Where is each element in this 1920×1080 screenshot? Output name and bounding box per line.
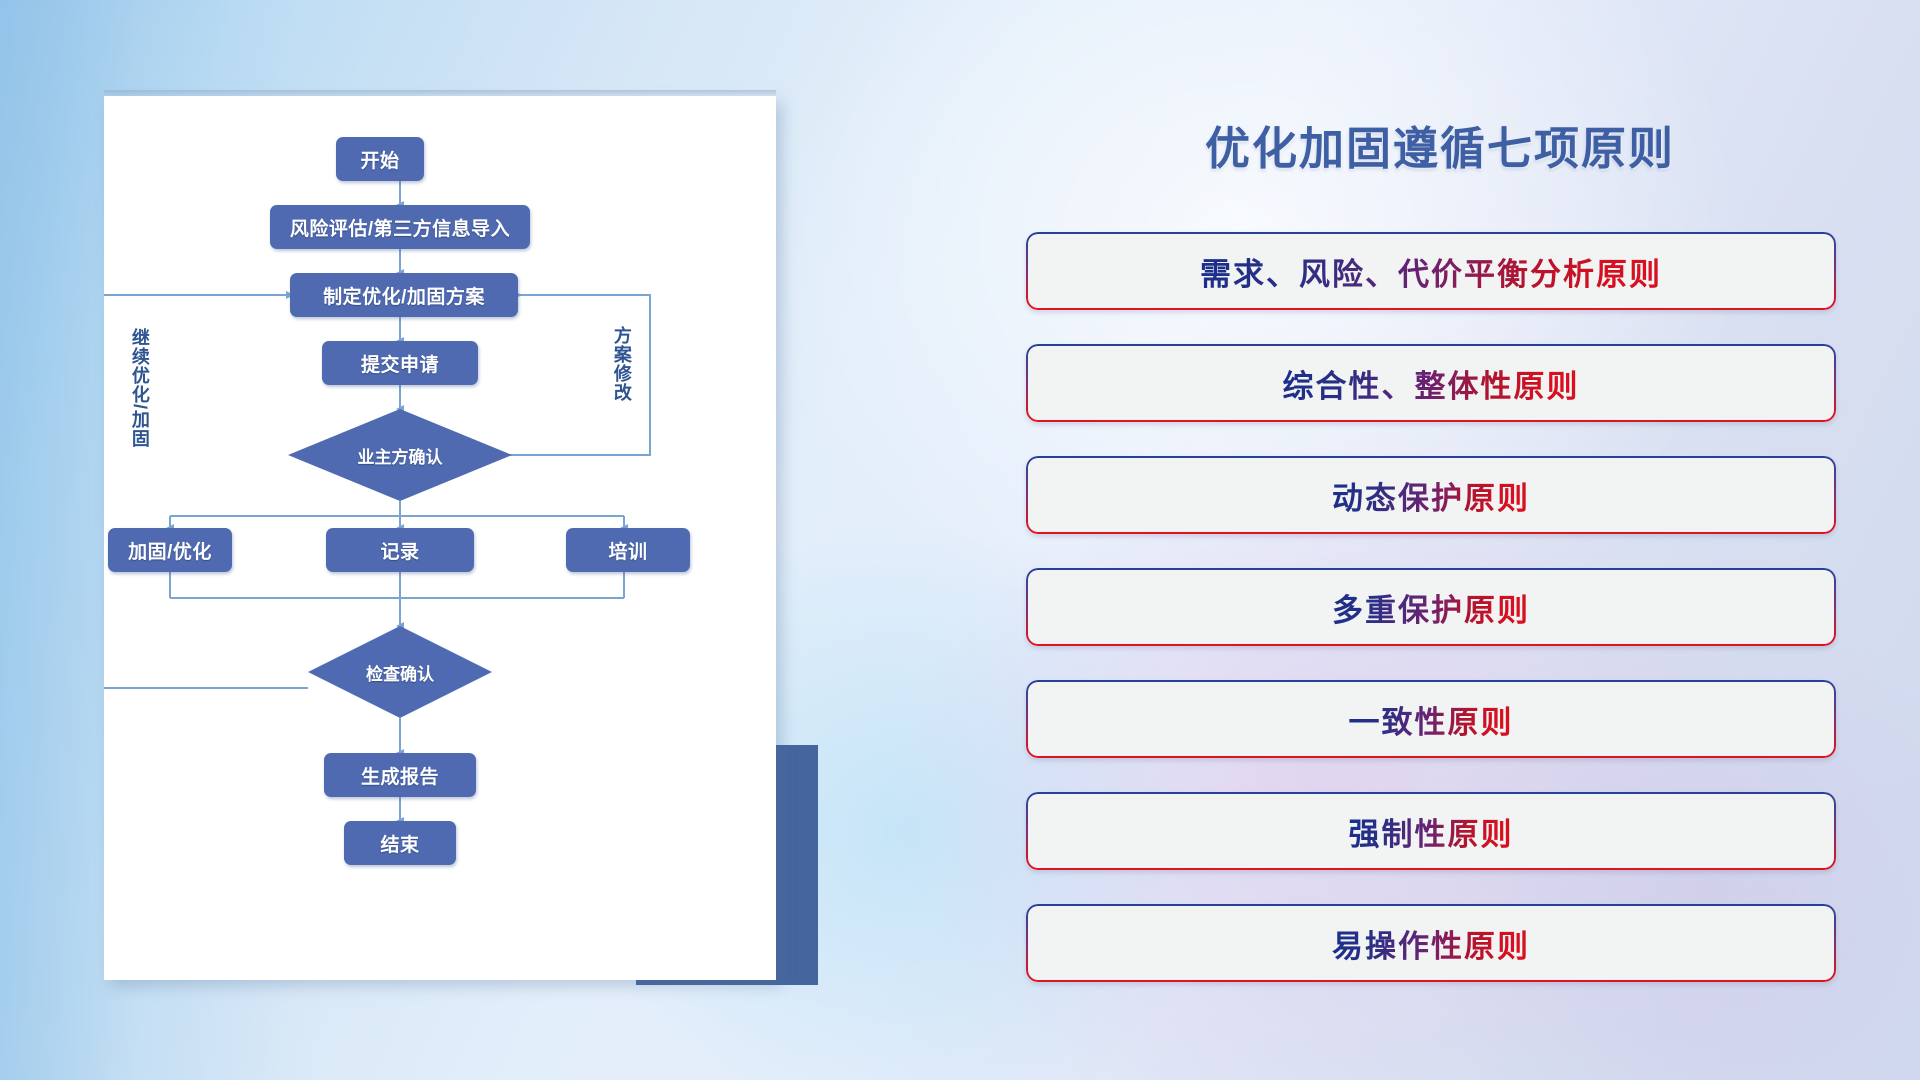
- flowchart-stage: 开始 风险评估/第三方信息导入 制定优化/加固方案 提交申请 业主方确认 加固/…: [0, 0, 900, 1080]
- flow-node-generate-report[interactable]: 生成报告: [324, 753, 476, 797]
- principle-card-6[interactable]: 强制性原则: [1026, 792, 1836, 870]
- flow-node-end[interactable]: 结束: [344, 821, 456, 865]
- flow-node-reinforce-optimize[interactable]: 加固/优化: [108, 528, 232, 572]
- principle-card-label: 多重保护原则: [1332, 585, 1530, 630]
- flow-node-start[interactable]: 开始: [336, 137, 424, 181]
- page-title: 优化加固遵循七项原则: [1010, 112, 1870, 177]
- flow-node-record[interactable]: 记录: [326, 528, 474, 572]
- principle-card-label: 强制性原则: [1349, 809, 1514, 854]
- flow-node-training[interactable]: 培训: [566, 528, 690, 572]
- principle-card-4[interactable]: 多重保护原则: [1026, 568, 1836, 646]
- principle-card-7[interactable]: 易操作性原则: [1026, 904, 1836, 982]
- flow-node-submit-application[interactable]: 提交申请: [322, 341, 478, 385]
- principle-card-5[interactable]: 一致性原则: [1026, 680, 1836, 758]
- principle-card-label: 动态保护原则: [1332, 473, 1530, 518]
- principle-card-label: 易操作性原则: [1332, 921, 1530, 966]
- principle-card-3[interactable]: 动态保护原则: [1026, 456, 1836, 534]
- flowchart-paper: 开始 风险评估/第三方信息导入 制定优化/加固方案 提交申请 业主方确认 加固/…: [104, 96, 776, 980]
- flow-edge-label-continue-optimize: 继续优化/加固: [130, 328, 149, 448]
- principle-card-1[interactable]: 需求、风险、代价平衡分析原则: [1026, 232, 1836, 310]
- principle-card-2[interactable]: 综合性、整体性原则: [1026, 344, 1836, 422]
- flow-node-make-plan[interactable]: 制定优化/加固方案: [290, 273, 518, 317]
- principle-card-label: 需求、风险、代价平衡分析原则: [1200, 249, 1662, 294]
- principle-card-label: 综合性、整体性原则: [1283, 361, 1580, 406]
- principles-card-list: 需求、风险、代价平衡分析原则 综合性、整体性原则 动态保护原则 多重保护原则 一…: [1026, 232, 1836, 1016]
- flowchart-diagram: 开始 风险评估/第三方信息导入 制定优化/加固方案 提交申请 业主方确认 加固/…: [104, 96, 776, 980]
- principle-card-label: 一致性原则: [1349, 697, 1514, 742]
- principles-panel: 优化加固遵循七项原则 需求、风险、代价平衡分析原则 综合性、整体性原则 动态保护…: [1010, 0, 1920, 1080]
- flow-edge-label-plan-revision: 方案修改: [612, 326, 631, 402]
- flow-node-risk-assessment[interactable]: 风险评估/第三方信息导入: [270, 205, 530, 249]
